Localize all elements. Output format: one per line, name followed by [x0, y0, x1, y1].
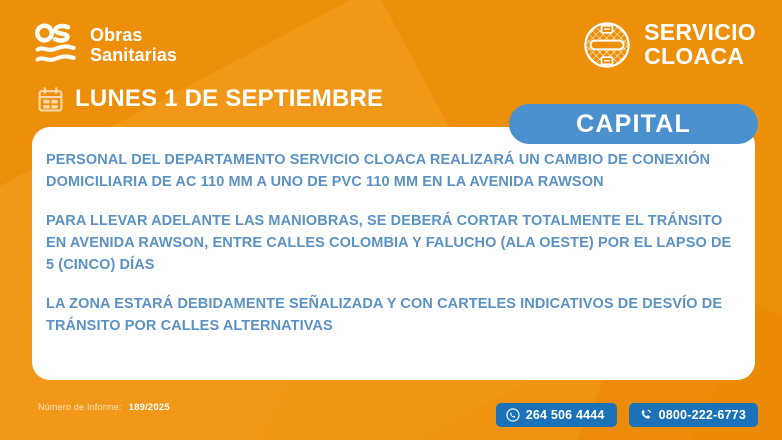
report-number: Número de Informe: 189/2025 [38, 402, 170, 413]
obras-sanitarias-name: Obras Sanitarias [90, 25, 177, 65]
phone-icon [639, 408, 653, 422]
date-row: LUNES 1 DE SEPTIEMBRE [38, 85, 383, 113]
manhole-cover-icon [582, 20, 632, 70]
bulletin-graphic: Obras Sanitarias [0, 0, 782, 440]
os-waves-logo-icon [34, 22, 78, 68]
notice-card: PERSONAL DEL DEPARTAMENTO SERVICIO CLOAC… [32, 127, 755, 380]
contact-buttons: 264 506 4444 0800-222-6773 [496, 403, 758, 427]
whatsapp-contact-button[interactable]: 264 506 4444 [496, 403, 617, 427]
date-label: LUNES 1 DE SEPTIEMBRE [75, 85, 383, 113]
servicio-cloaca-brand: SERVICIO CLOACA [582, 20, 756, 70]
report-number-label: Número de Informe: [38, 402, 122, 412]
notice-paragraph-2: PARA LLEVAR ADELANTE LAS MANIOBRAS, SE D… [46, 210, 737, 276]
zone-badge-label: CAPITAL [576, 110, 691, 139]
notice-card-body: PERSONAL DEL DEPARTAMENTO SERVICIO CLOAC… [32, 127, 755, 347]
calendar-icon [38, 87, 63, 112]
whatsapp-number: 264 506 4444 [526, 408, 605, 422]
phone-number: 0800-222-6773 [659, 408, 746, 422]
whatsapp-icon [506, 408, 520, 422]
obras-sanitarias-brand: Obras Sanitarias [34, 22, 177, 68]
notice-paragraph-3: LA ZONA ESTARÁ DEBIDAMENTE SEÑALIZADA Y … [46, 293, 737, 337]
phone-contact-button[interactable]: 0800-222-6773 [629, 403, 758, 427]
notice-paragraph-1: PERSONAL DEL DEPARTAMENTO SERVICIO CLOAC… [46, 149, 737, 193]
report-number-value: 189/2025 [129, 402, 170, 413]
zone-badge-capital: CAPITAL [509, 104, 758, 144]
servicio-cloaca-name: SERVICIO CLOACA [644, 21, 756, 69]
